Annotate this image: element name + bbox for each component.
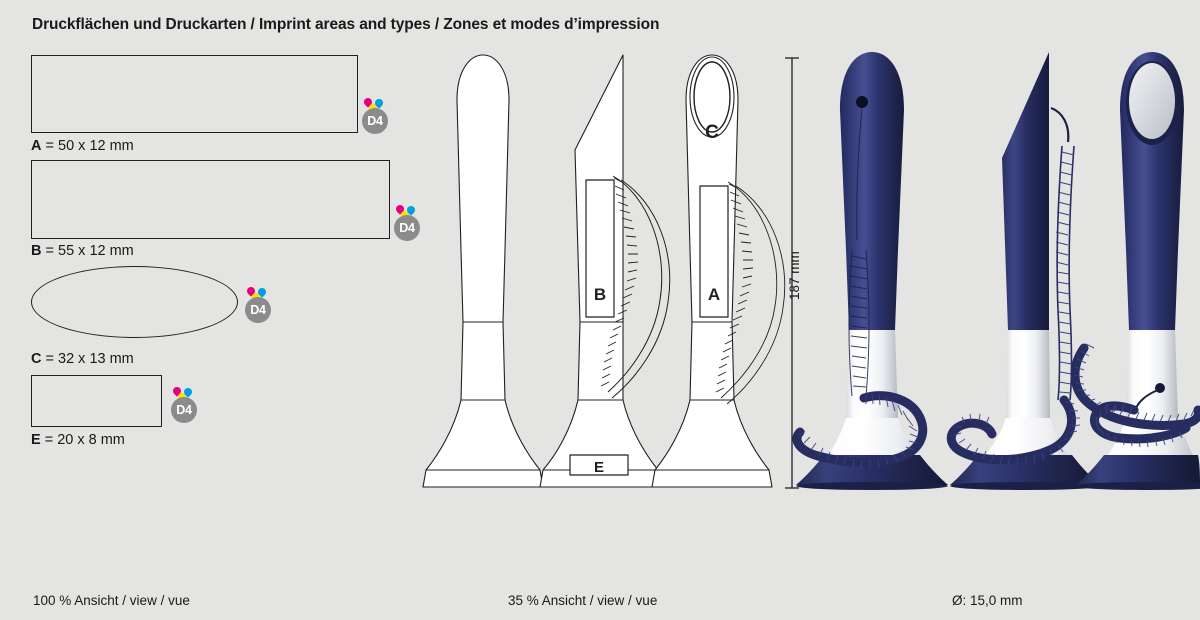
drawing-marker-a: A — [708, 285, 720, 304]
imprint-area-label-b: B = 55 x 12 mm — [31, 244, 134, 259]
page-title: Druckflächen und Druckarten / Imprint ar… — [32, 16, 659, 34]
product-render-front — [796, 52, 948, 490]
spec-sheet: Druckflächen und Druckarten / Imprint ar… — [0, 0, 1200, 620]
product-render-back — [1074, 52, 1200, 490]
imprint-area-dims-b: = 55 x 12 mm — [46, 243, 134, 259]
footer-scale-center: 35 % Ansicht / view / vue — [508, 593, 657, 608]
imprint-area-label-e: E = 20 x 8 mm — [31, 433, 125, 448]
drawing-view-side — [540, 55, 661, 487]
print-method-badge-e: D4 — [169, 385, 199, 423]
product-render-side — [950, 52, 1100, 490]
badge-text: D4 — [399, 222, 414, 235]
drawing-marker-b: B — [594, 285, 606, 304]
imprint-area-shape-a — [31, 55, 358, 133]
imprint-area-shape-b — [31, 160, 390, 239]
badge-text: D4 — [250, 304, 265, 317]
coil-cord-back — [716, 182, 785, 404]
badge-text: D4 — [176, 404, 191, 417]
footer-diameter: Ø: 15,0 mm — [952, 593, 1023, 608]
coil-cord — [797, 396, 923, 463]
imprint-area-dims-a: = 50 x 12 mm — [46, 138, 134, 154]
imprint-area-label-c: C = 32 x 13 mm — [31, 352, 134, 367]
imprint-area-code-b: B — [31, 243, 41, 259]
print-method-badge-c: D4 — [243, 285, 273, 323]
imprint-area-code-c: C — [31, 351, 41, 367]
badge-text: D4 — [367, 115, 382, 128]
imprint-area-code-a: A — [31, 138, 41, 154]
drawing-view-front — [423, 55, 543, 487]
imprint-area-dims-e: = 20 x 8 mm — [45, 432, 125, 448]
badge-circle: D4 — [362, 108, 388, 134]
drawing-marker-c: C — [705, 122, 719, 143]
footer-scale-left: 100 % Ansicht / view / vue — [33, 593, 190, 608]
coil-cord-side — [601, 176, 670, 398]
print-method-badge-a: D4 — [360, 96, 390, 134]
badge-circle: D4 — [394, 215, 420, 241]
imprint-area-shape-e — [31, 375, 162, 427]
print-method-badge-b: D4 — [392, 203, 422, 241]
imprint-area-label-a: A = 50 x 12 mm — [31, 139, 134, 154]
imprint-area-shape-c — [31, 266, 238, 338]
imprint-area-dims-c: = 32 x 13 mm — [46, 351, 134, 367]
badge-circle: D4 — [245, 297, 271, 323]
drawing-view-back — [652, 55, 772, 487]
drawing-marker-e: E — [594, 459, 604, 476]
badge-circle: D4 — [171, 397, 197, 423]
dimension-label: 187 mm — [787, 251, 802, 300]
imprint-area-code-e: E — [31, 432, 41, 448]
